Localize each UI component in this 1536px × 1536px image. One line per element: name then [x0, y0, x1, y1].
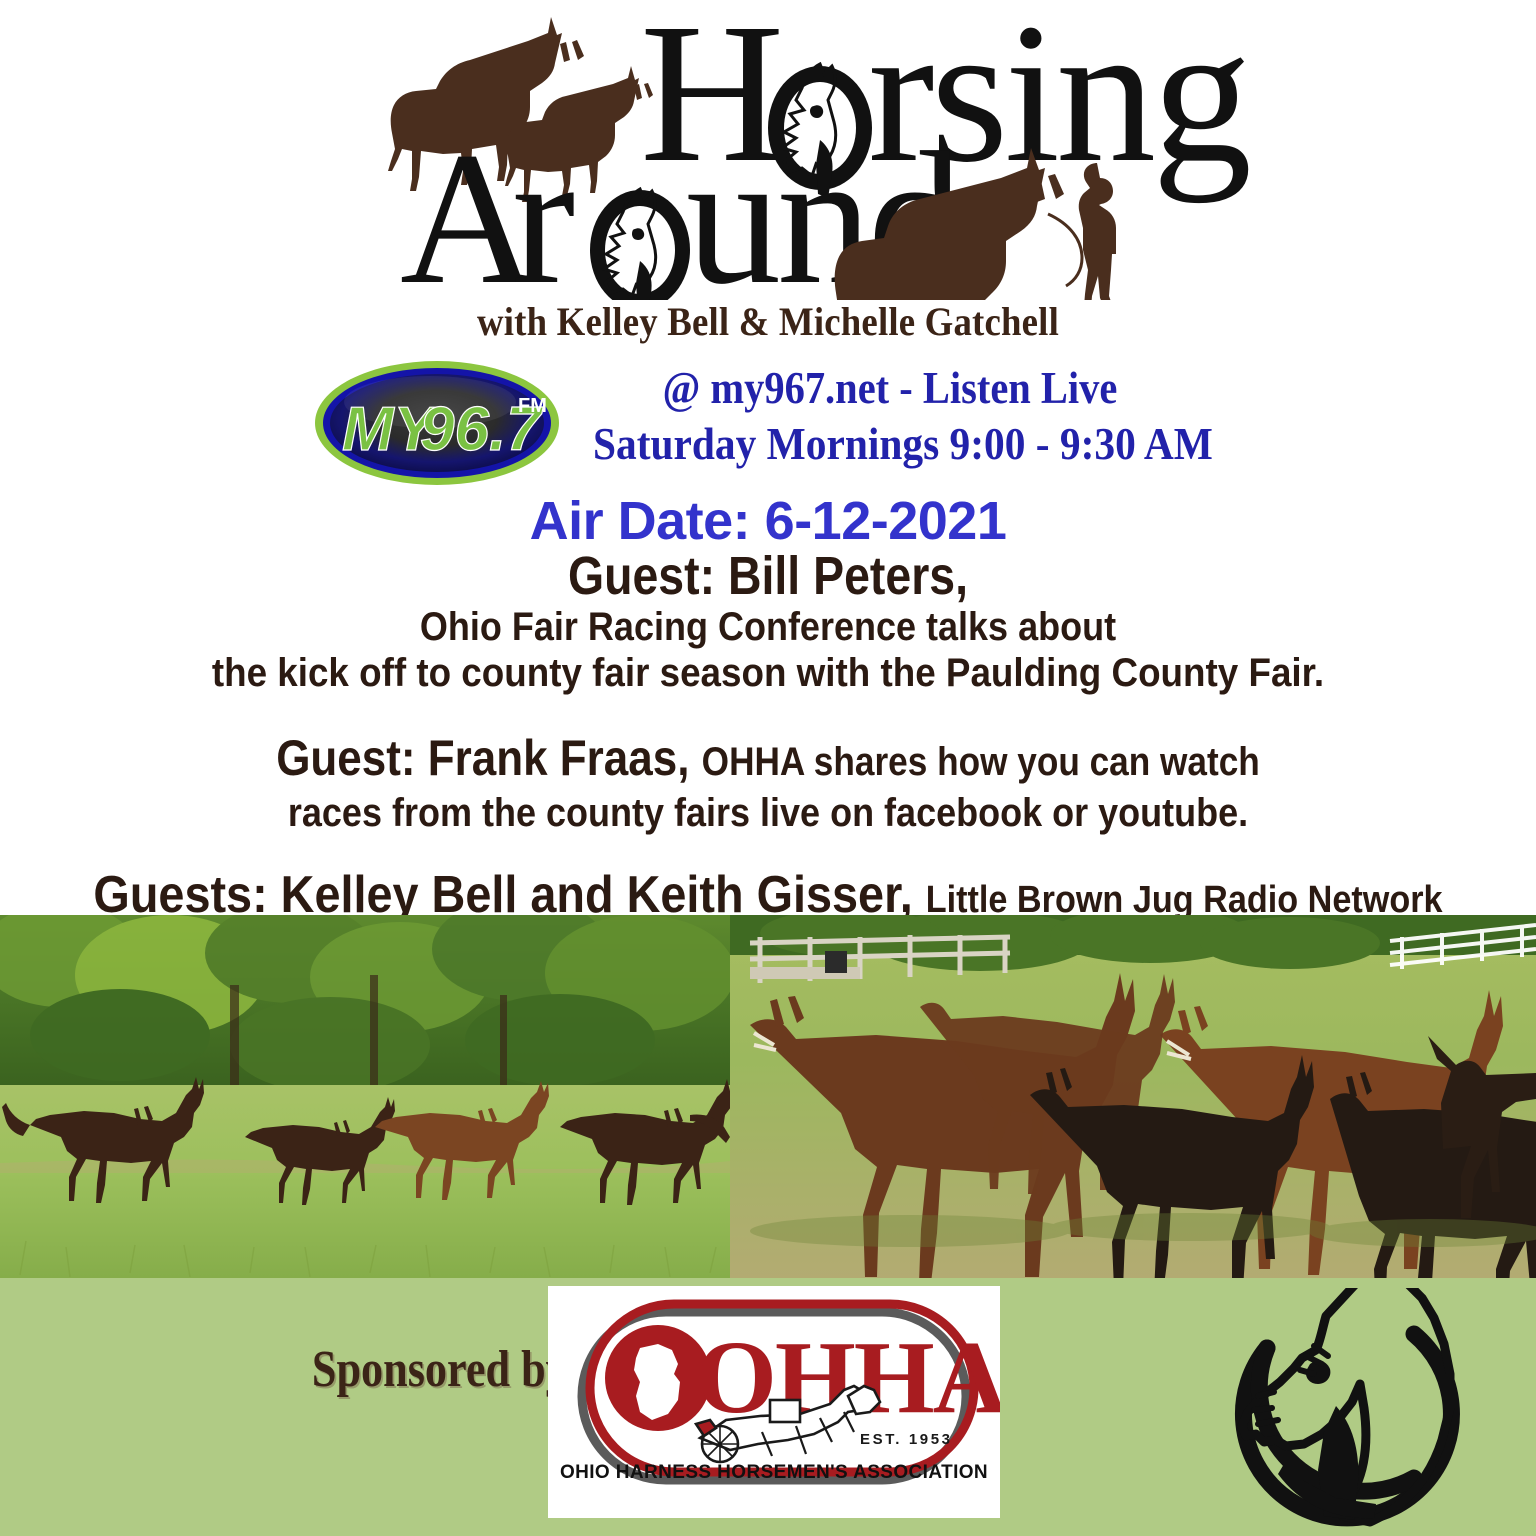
my967-fm-logo[interactable]: MY 96.7 FM [312, 358, 562, 488]
photo-horses-running [0, 915, 730, 1278]
schedule-line: Saturday Mornings 9:00 - 9:30 AM [593, 416, 1187, 472]
sponsor-band: Sponsored by: OHHA [0, 1278, 1536, 1536]
ohha-logo: OHHA EST. 1953 OHIO HARNESS HORSEMEN'S A… [548, 1286, 1000, 1518]
photo-strip [0, 915, 1536, 1278]
guest-2-desc: OHHA shares how you can watch [702, 740, 1260, 784]
ohha-established: EST. 1953 [860, 1431, 953, 1448]
guest-2-name: Guest: Frank Fraas, [276, 730, 689, 786]
horse-head-in-o-icon-2 [590, 189, 690, 300]
station-row: MY 96.7 FM @ my967.net - Listen Live Sat… [0, 352, 1536, 492]
guest-block-1: Guest: Bill Peters, Ohio Fair Racing Con… [0, 548, 1536, 696]
air-date: Air Date: 6-12-2021 [0, 490, 1536, 552]
guest-1-line2: Ohio Fair Racing Conference talks about [77, 604, 1459, 650]
my967-fm-suffix: FM [518, 395, 547, 417]
photo-mares-and-foals [730, 915, 1536, 1278]
guest-2-line2: races from the county fairs live on face… [77, 790, 1459, 836]
svg-text:r: r [512, 114, 575, 300]
station-schedule: @ my967.net - Listen Live Saturday Morni… [560, 360, 1220, 472]
poster-canvas: H rsing A r und [0, 0, 1536, 1536]
show-hosts-subtitle: with Kelley Bell & Michelle Gatchell [61, 298, 1474, 345]
ohha-full-name: OHIO HARNESS HORSEMEN'S ASSOCIATION [560, 1462, 988, 1483]
horsing-around-wordmark: H rsing A r und [0, 0, 1536, 300]
guest-1-name: Guest: Bill Peters, [108, 548, 1429, 604]
guest-block-2: Guest: Frank Fraas, OHHA shares how you … [0, 730, 1536, 836]
ohha-logo-card[interactable]: OHHA EST. 1953 OHIO HARNESS HORSEMEN'S A… [548, 1286, 1000, 1518]
show-logo: H rsing A r und [0, 0, 1536, 300]
listen-live-line[interactable]: @ my967.net - Listen Live [600, 360, 1181, 416]
guest-1-line3: the kick off to county fair season with … [61, 650, 1474, 696]
guest-2-headline: Guest: Frank Fraas, OHHA shares how you … [92, 730, 1444, 790]
sponsored-by-label: Sponsored by: [312, 1340, 583, 1399]
horse-head-circle-logo[interactable] [1218, 1288, 1480, 1528]
